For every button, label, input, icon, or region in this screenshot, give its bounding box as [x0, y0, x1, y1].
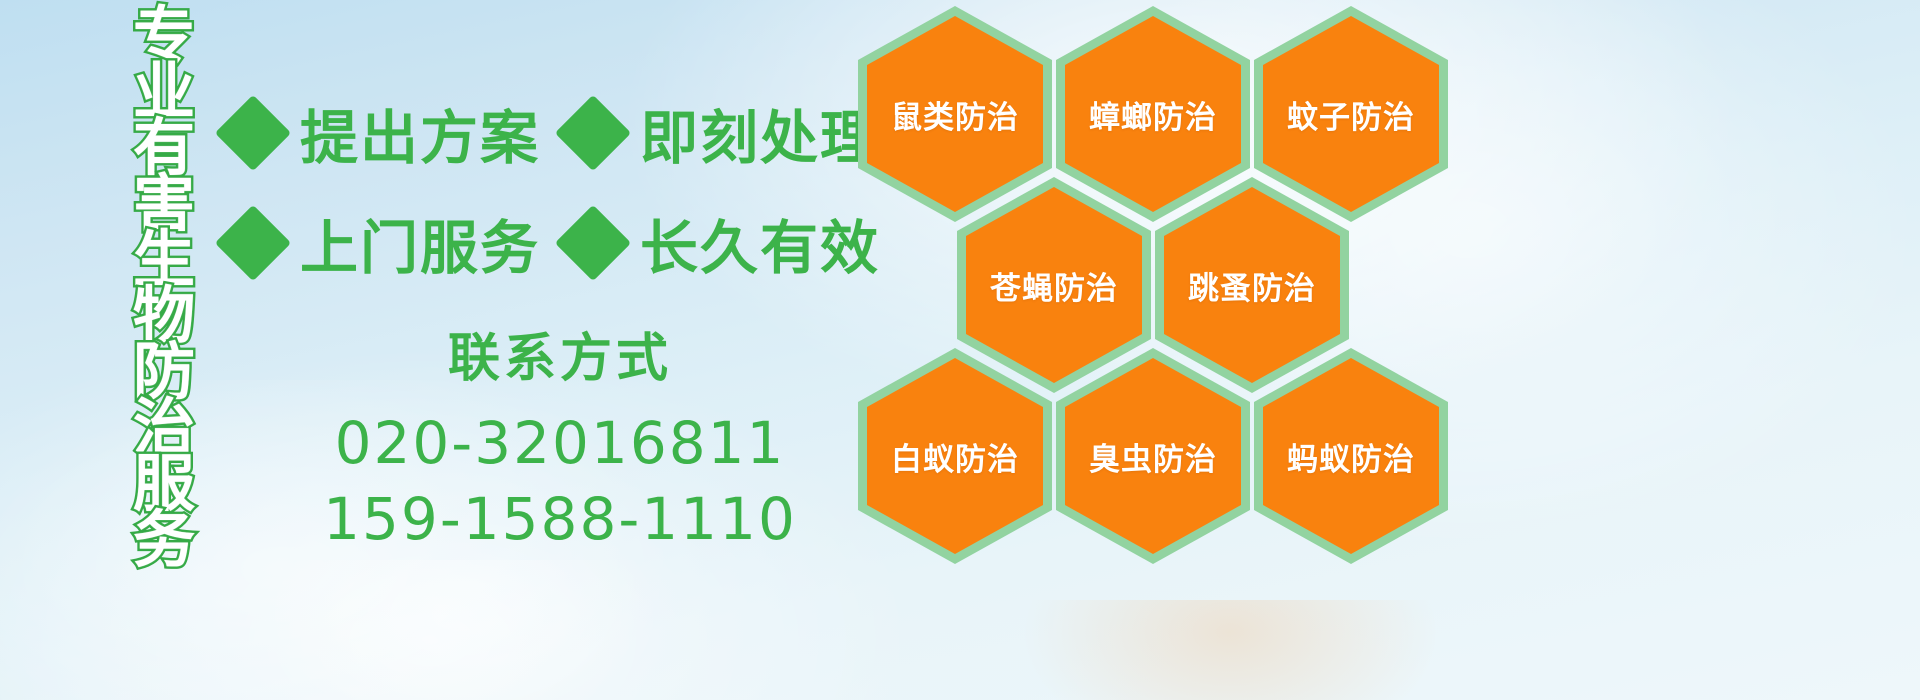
pest-control-promo-banner: 专 业 有 害 生 物 防 治 服 务 提出方案 即刻处理 上门服务 长久有效 …: [0, 0, 1920, 700]
diamond-bullet-icon: [215, 95, 291, 171]
contact-title: 联系方式: [300, 316, 820, 391]
phone-number-mobile[interactable]: 159-1588-1110: [300, 481, 820, 557]
service-hexagon-cluster: 鼠类防治 蟑螂防治 蚊子防治 苍蝇防治 跳蚤防治: [858, 0, 1458, 554]
service-label: 蚊子防治: [1287, 92, 1415, 137]
feature-label: 上门服务: [300, 201, 540, 285]
service-label: 跳蚤防治: [1188, 263, 1316, 308]
feature-row: 提出方案 即刻处理: [226, 78, 866, 188]
vertical-headline-char: 务: [133, 512, 195, 568]
feature-label: 即刻处理: [640, 91, 880, 175]
service-label: 蟑螂防治: [1089, 92, 1217, 137]
service-hex-bedbug[interactable]: 臭虫防治: [1056, 348, 1250, 564]
contact-block: 联系方式 020-32016811 159-1588-1110: [300, 316, 820, 557]
diamond-bullet-icon: [215, 205, 291, 281]
service-label: 白蚁防治: [891, 434, 1019, 479]
feature-row: 上门服务 长久有效: [226, 188, 866, 298]
background-glow-bottom-right: [1020, 600, 1440, 700]
service-label: 蚂蚁防治: [1287, 434, 1415, 479]
feature-label: 提出方案: [300, 91, 540, 175]
background-glow-bottom-left: [250, 560, 670, 700]
service-hex-ant[interactable]: 蚂蚁防治: [1254, 348, 1448, 564]
vertical-headline: 专 业 有 害 生 物 防 治 服 务: [112, 8, 216, 568]
diamond-bullet-icon: [555, 205, 631, 281]
service-label: 苍蝇防治: [990, 263, 1118, 308]
service-label: 鼠类防治: [891, 92, 1019, 137]
feature-list: 提出方案 即刻处理 上门服务 长久有效: [226, 78, 866, 298]
feature-label: 长久有效: [640, 201, 880, 285]
diamond-bullet-icon: [555, 95, 631, 171]
service-label: 臭虫防治: [1089, 434, 1217, 479]
phone-number-landline[interactable]: 020-32016811: [300, 405, 820, 481]
service-hex-termite[interactable]: 白蚁防治: [858, 348, 1052, 564]
